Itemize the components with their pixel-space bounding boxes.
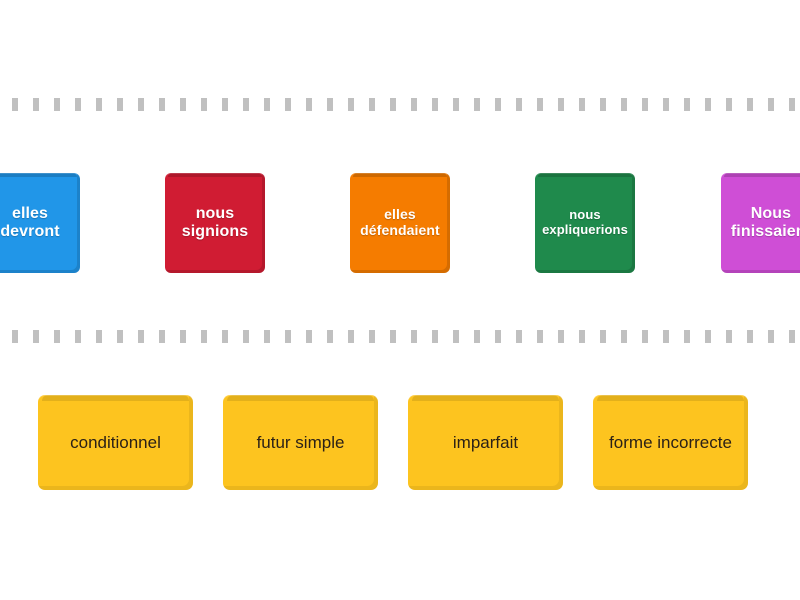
divider-dash [390,330,396,343]
divider-dash [348,330,354,343]
divider-dash [117,330,123,343]
word-tile-label: nous expliquerions [542,208,628,237]
divider-dash [537,330,543,343]
divider-dash [600,330,606,343]
divider-dash [159,98,165,111]
divider-dash [306,330,312,343]
word-tile[interactable]: elles devront [0,173,80,273]
divider-dash [642,330,648,343]
divider-dash [180,98,186,111]
divider-dash [474,330,480,343]
category-tile[interactable]: forme incorrecte [593,395,748,490]
divider-dash [369,330,375,343]
divider-dash [747,330,753,343]
divider-dash [327,330,333,343]
divider-dash [621,98,627,111]
divider-dash [411,330,417,343]
divider-dash [327,98,333,111]
divider-dash [348,98,354,111]
top-drop-zone-divider [0,98,800,111]
divider-dash [516,330,522,343]
divider-dash [789,330,795,343]
divider-dash [222,330,228,343]
divider-dash [684,98,690,111]
category-tile[interactable]: futur simple [223,395,378,490]
divider-dash [180,330,186,343]
divider-dash [33,98,39,111]
word-tile-label: nous signions [182,205,249,241]
word-tile[interactable]: nous expliquerions [535,173,635,273]
divider-dash [579,330,585,343]
divider-dash [474,98,480,111]
divider-dash [201,98,207,111]
divider-dash [285,98,291,111]
word-tile-label: Nous finissaient [731,205,800,241]
divider-dash [537,98,543,111]
category-tile-label: conditionnel [70,433,161,453]
word-tile-label: elles défendaient [360,207,440,238]
divider-dash [495,330,501,343]
divider-dash [768,98,774,111]
divider-dash [159,330,165,343]
divider-dash [600,98,606,111]
divider-dash [201,330,207,343]
divider-dash [726,330,732,343]
divider-dash [705,330,711,343]
divider-dash [138,330,144,343]
sorting-activity-board: elles devrontnous signionselles défendai… [0,0,800,600]
divider-dash [558,330,564,343]
divider-dash [684,330,690,343]
divider-dash [12,330,18,343]
divider-dash [54,98,60,111]
divider-dash [768,330,774,343]
divider-dash [369,98,375,111]
divider-dash [306,98,312,111]
divider-dash [54,330,60,343]
word-tile[interactable]: nous signions [165,173,265,273]
divider-dash [285,330,291,343]
divider-dash [621,330,627,343]
category-tile-label: futur simple [257,433,345,453]
divider-dash [579,98,585,111]
divider-dash [495,98,501,111]
category-tile-label: imparfait [453,433,518,453]
divider-dash [12,98,18,111]
divider-dash [453,330,459,343]
divider-dash [264,330,270,343]
divider-dash [705,98,711,111]
divider-dash [243,98,249,111]
divider-dash [432,330,438,343]
divider-dash [222,98,228,111]
divider-dash [642,98,648,111]
word-tile[interactable]: elles défendaient [350,173,450,273]
word-tile-label: elles devront [0,205,59,241]
category-tile[interactable]: conditionnel [38,395,193,490]
divider-dash [663,330,669,343]
divider-dash [516,98,522,111]
divider-dash [558,98,564,111]
divider-dash [747,98,753,111]
divider-dash [411,98,417,111]
divider-dash [138,98,144,111]
divider-dash [789,98,795,111]
category-tile[interactable]: imparfait [408,395,563,490]
word-tile[interactable]: Nous finissaient [721,173,800,273]
divider-dash [264,98,270,111]
divider-dash [75,330,81,343]
divider-dash [390,98,396,111]
bottom-drop-zone-divider [0,330,800,343]
divider-dash [96,98,102,111]
divider-dash [663,98,669,111]
divider-dash [75,98,81,111]
divider-dash [117,98,123,111]
divider-dash [33,330,39,343]
divider-dash [726,98,732,111]
divider-dash [243,330,249,343]
divider-dash [432,98,438,111]
category-tile-label: forme incorrecte [609,433,732,453]
divider-dash [96,330,102,343]
divider-dash [453,98,459,111]
